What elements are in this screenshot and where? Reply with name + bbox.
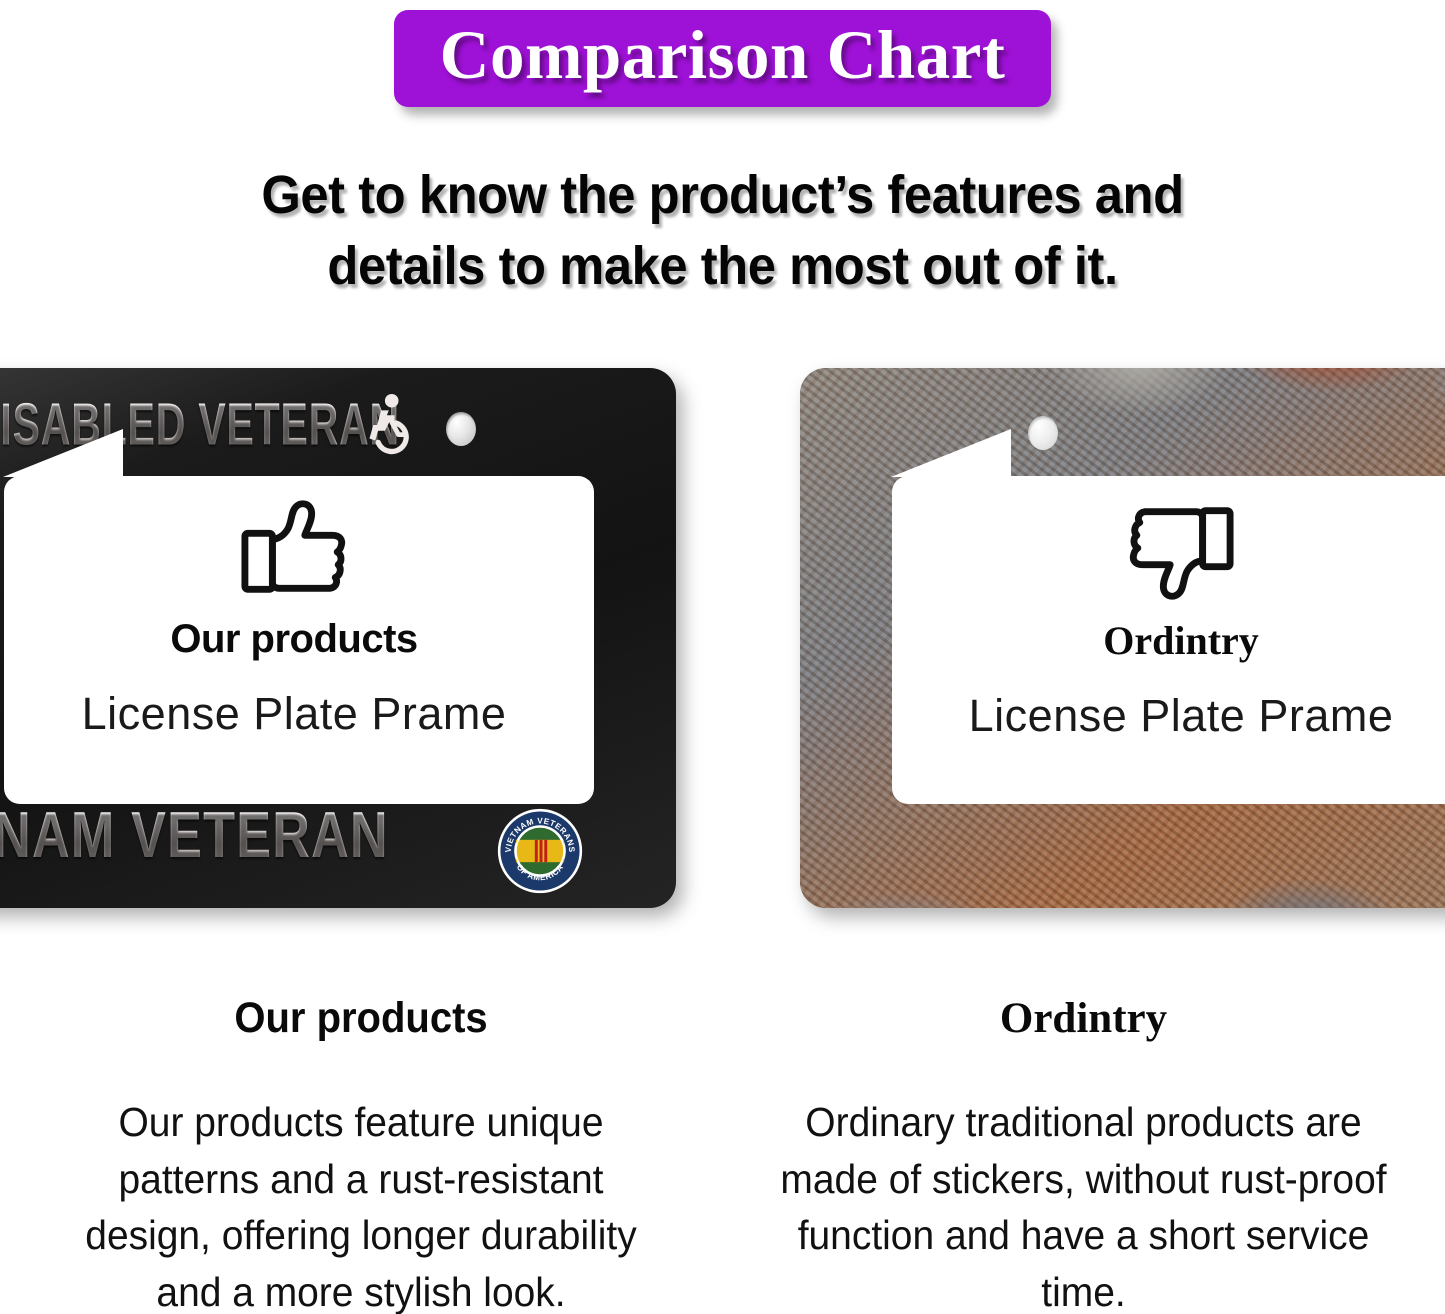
mounting-hole-right <box>1028 416 1058 450</box>
frame-bottom-label: TNAM VETERAN <box>0 798 389 873</box>
wheelchair-icon <box>352 390 414 456</box>
left-caption-body: Our products feature unique patterns and… <box>18 1094 704 1314</box>
left-window-title: Our products <box>0 617 676 662</box>
left-window-content: Our products License Plate Prame <box>0 496 676 740</box>
mounting-hole-left <box>446 412 476 446</box>
right-window-content: Ordintry License Plate Prame <box>800 496 1445 742</box>
ordinary-product-caption-column: Ordintry Ordinary traditional products a… <box>722 995 1445 1314</box>
comparison-chart-page: Comparison Chart Get to know the product… <box>0 0 1445 1314</box>
thumbs-up-icon <box>235 496 353 604</box>
vietnam-veterans-of-america-badge-icon: VIETNAM VETERANS OF AMERICA <box>497 808 583 894</box>
right-window-title: Ordintry <box>800 617 1445 664</box>
thumbs-down-icon <box>1122 496 1240 604</box>
right-caption-body: Ordinary traditional products are made o… <box>740 1094 1427 1314</box>
ordinary-product-license-plate-frame: Ordintry License Plate Prame <box>800 368 1445 908</box>
our-product-license-plate-frame: DISABLED VETERAN TNAM VETERAN <box>0 368 676 908</box>
our-product-caption-column: Our products Our products feature unique… <box>0 995 722 1314</box>
right-window-subtitle: License Plate Prame <box>800 690 1445 742</box>
left-caption-heading: Our products <box>25 995 696 1042</box>
right-caption-heading: Ordintry <box>722 995 1445 1042</box>
left-window-subtitle: License Plate Prame <box>0 688 676 740</box>
